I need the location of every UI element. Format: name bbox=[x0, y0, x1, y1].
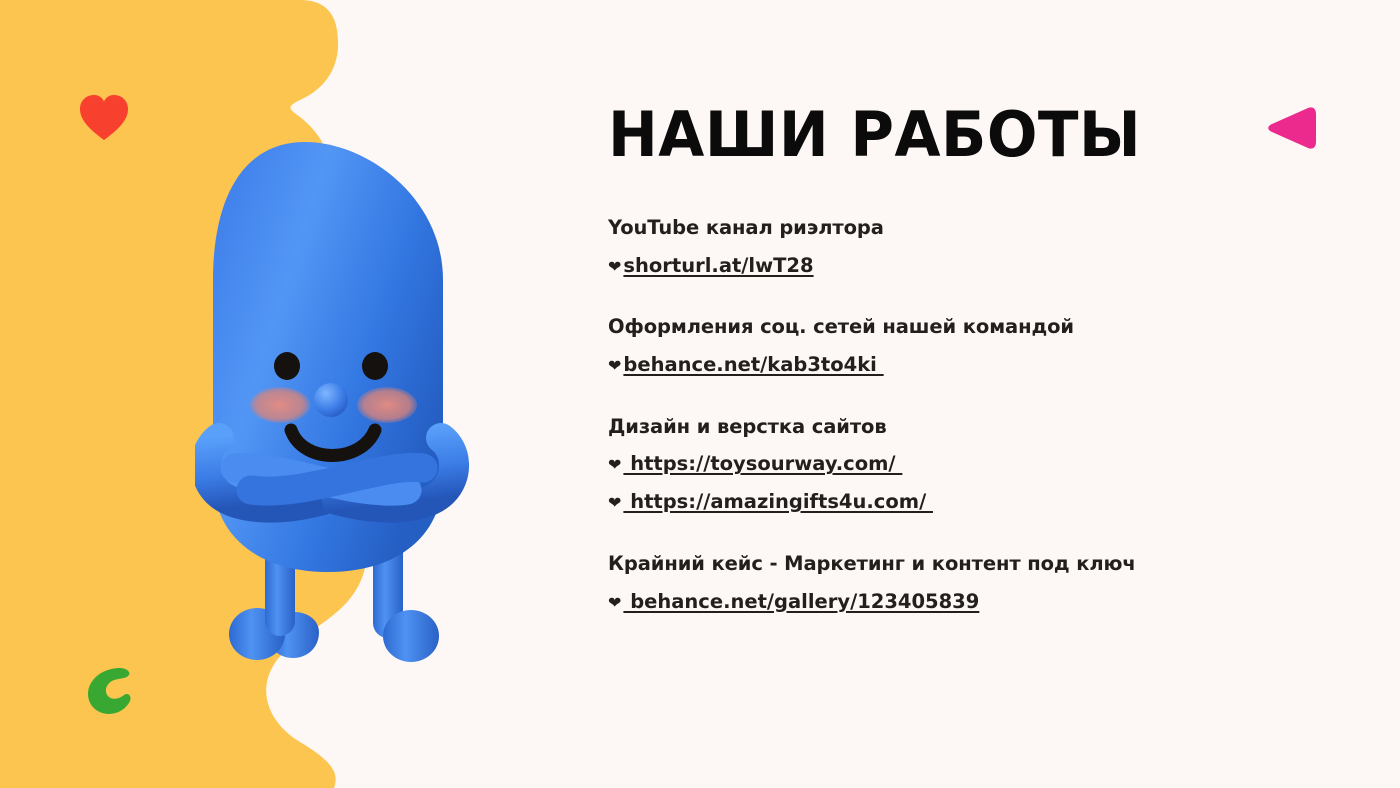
right-eye bbox=[362, 352, 388, 380]
heart-bullet-icon: ❤ bbox=[608, 592, 621, 615]
works-group: Оформления соц. сетей нашей командой ❤ b… bbox=[608, 313, 1348, 378]
page-title: НАШИ РАБОТЫ bbox=[608, 104, 1318, 166]
red-heart-icon bbox=[78, 94, 130, 142]
left-eye bbox=[274, 352, 300, 380]
right-cheek bbox=[357, 387, 417, 423]
work-link[interactable]: https://toysourway.com/ bbox=[623, 450, 902, 478]
work-link[interactable]: shorturl.at/lwT28 bbox=[623, 252, 813, 280]
slide-root: НАШИ РАБОТЫ YouTube канал риэлтора ❤ sho… bbox=[0, 0, 1400, 788]
green-comma-icon bbox=[82, 660, 138, 716]
heart-bullet-icon: ❤ bbox=[608, 256, 621, 279]
work-link[interactable]: behance.net/kab3to4ki bbox=[623, 351, 883, 379]
work-link[interactable]: https://amazingifts4u.com/ bbox=[623, 488, 933, 516]
heart-bullet-icon: ❤ bbox=[608, 492, 621, 515]
group-heading: Оформления соц. сетей нашей командой bbox=[608, 313, 1348, 341]
works-group: Дизайн и верстка сайтов ❤ https://toysou… bbox=[608, 413, 1348, 516]
nose bbox=[314, 383, 348, 417]
left-cheek bbox=[250, 387, 310, 423]
link-item[interactable]: ❤ behance.net/kab3to4ki bbox=[608, 351, 1348, 379]
group-heading: YouTube канал риэлтора bbox=[608, 214, 1348, 242]
link-item[interactable]: ❤ https://amazingifts4u.com/ bbox=[608, 488, 1348, 516]
link-item[interactable]: ❤ shorturl.at/lwT28 bbox=[608, 252, 1348, 280]
works-group: YouTube канал риэлтора ❤ shorturl.at/lwT… bbox=[608, 214, 1348, 279]
heart-bullet-icon: ❤ bbox=[608, 454, 621, 477]
link-item[interactable]: ❤ https://toysourway.com/ bbox=[608, 450, 1348, 478]
blue-mascot-illustration bbox=[195, 120, 495, 668]
link-item[interactable]: ❤ behance.net/gallery/123405839 bbox=[608, 588, 1348, 616]
content-column: НАШИ РАБОТЫ YouTube канал риэлтора ❤ sho… bbox=[608, 104, 1348, 615]
work-link[interactable]: behance.net/gallery/123405839 bbox=[623, 588, 979, 616]
works-list: YouTube канал риэлтора ❤ shorturl.at/lwT… bbox=[608, 214, 1348, 615]
group-heading: Дизайн и верстка сайтов bbox=[608, 413, 1348, 441]
group-heading: Крайний кейс - Маркетинг и контент под к… bbox=[608, 550, 1348, 578]
works-group: Крайний кейс - Маркетинг и контент под к… bbox=[608, 550, 1348, 615]
heart-bullet-icon: ❤ bbox=[608, 355, 621, 378]
